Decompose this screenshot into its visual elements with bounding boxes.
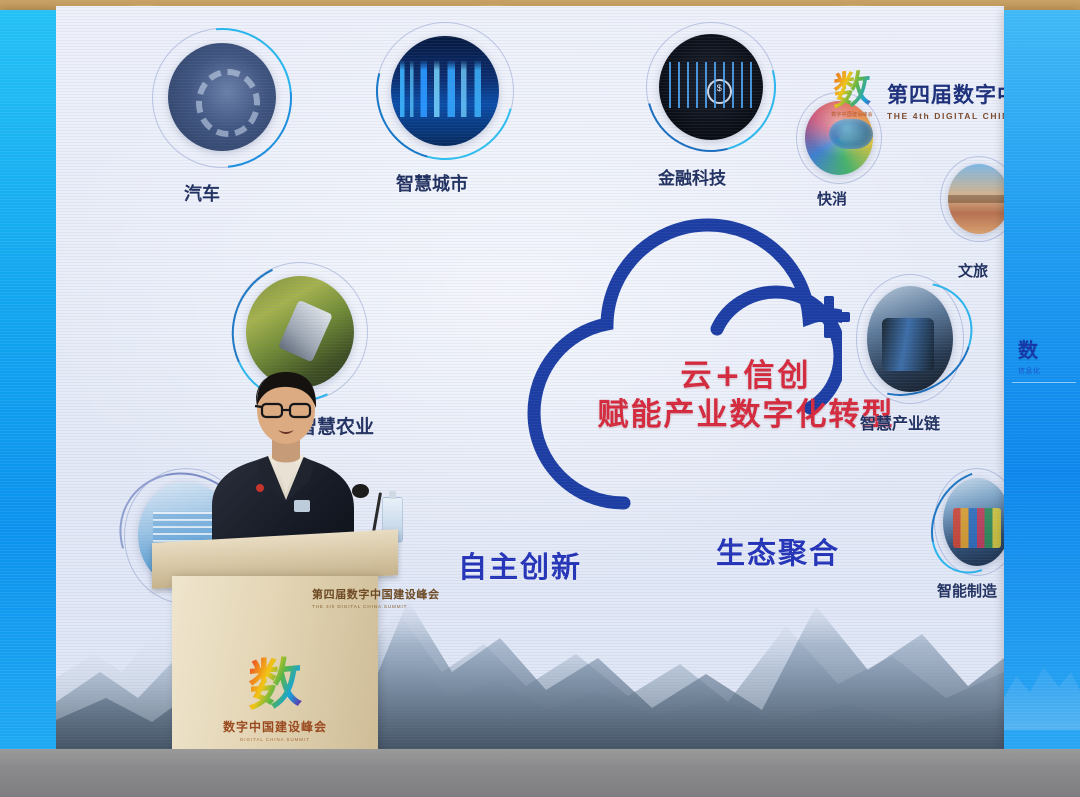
keyword-innovation: 自主创新 xyxy=(458,544,582,586)
podium-title-en: THE 4th DIGITAL CHINA SUMMIT xyxy=(312,604,412,609)
right-led-panel: 数 信息化 xyxy=(1004,10,1080,758)
bubble-photo xyxy=(948,164,1004,234)
right-panel-mark: 数 xyxy=(1018,340,1038,360)
bubble-photo: $ xyxy=(659,34,763,140)
industry-bubble-mfg: 智能制造 xyxy=(934,468,1004,576)
right-panel-divider xyxy=(1012,382,1076,383)
industry-bubble-fintech: $ 金融科技 xyxy=(646,22,776,152)
summit-title-cn: 第四届数字中国建设峰会 xyxy=(887,79,1004,109)
industry-label-city: 智慧城市 xyxy=(396,170,468,196)
industry-label-auto: 汽车 xyxy=(184,180,220,206)
right-panel-mountain xyxy=(1004,640,1080,730)
bubble-photo xyxy=(943,478,1004,566)
bubble-photo xyxy=(391,36,499,146)
summit-title-en: THE 4th DIGITAL CHINA SUMMIT xyxy=(887,111,1004,121)
bubble-photo xyxy=(168,43,276,151)
currency-icon: $ xyxy=(707,79,732,104)
industry-bubble-city: 智慧城市 xyxy=(376,22,514,160)
globe-icon xyxy=(829,119,873,149)
right-panel-subtext: 信息化 xyxy=(1018,366,1041,376)
summit-title-block: 第四届数字中国建设峰会 THE 4th DIGITAL CHINA SUMMIT xyxy=(887,79,1004,121)
industry-label-chain: 智慧产业链 xyxy=(860,410,940,434)
podium-title-cn: 第四届数字中国建设峰会 xyxy=(312,586,412,602)
industry-bubble-travel: 文旅 xyxy=(940,156,1004,242)
industry-bubble-auto: 汽车 xyxy=(152,28,292,168)
podium-logo: 数 数字中国建设峰会 DIGITAL CHINA SUMMIT xyxy=(220,656,330,742)
bubble-photo xyxy=(867,286,953,392)
left-led-band xyxy=(0,10,56,752)
keyword-ecosystem: 生态聚合 xyxy=(716,530,840,572)
summit-header-logo: 数 数字中国建设峰会 第四届数字中国建设峰会 THE 4th DIGITAL C… xyxy=(826,64,1004,136)
microphone-head xyxy=(352,484,369,498)
podium-mark-en: DIGITAL CHINA SUMMIT xyxy=(220,737,330,742)
industry-label-fintech: 金融科技 xyxy=(658,164,726,189)
podium-title-block: 第四届数字中国建设峰会 THE 4th DIGITAL CHINA SUMMIT xyxy=(312,586,412,609)
industry-bubble-chain: 智慧产业链 xyxy=(856,274,964,404)
podium-mark-glyph: 数 xyxy=(248,654,302,717)
summit-mark-subtext: 数字中国建设峰会 xyxy=(826,111,878,118)
summit-mark-icon: 数 数字中国建设峰会 xyxy=(826,69,878,131)
plus-icon xyxy=(808,296,850,338)
summit-mark-glyph: 数 xyxy=(826,64,878,116)
industry-label-mfg: 智能制造 xyxy=(937,580,997,601)
stage-photo: 云+信创 赋能产业数字化转型 汽车 智慧城市 $ 金融科技 xyxy=(0,0,1080,797)
industry-label-fmcg: 快消 xyxy=(817,188,847,209)
podium-mark-cn: 数字中国建设峰会 xyxy=(220,718,330,735)
stage-floor xyxy=(0,749,1080,797)
